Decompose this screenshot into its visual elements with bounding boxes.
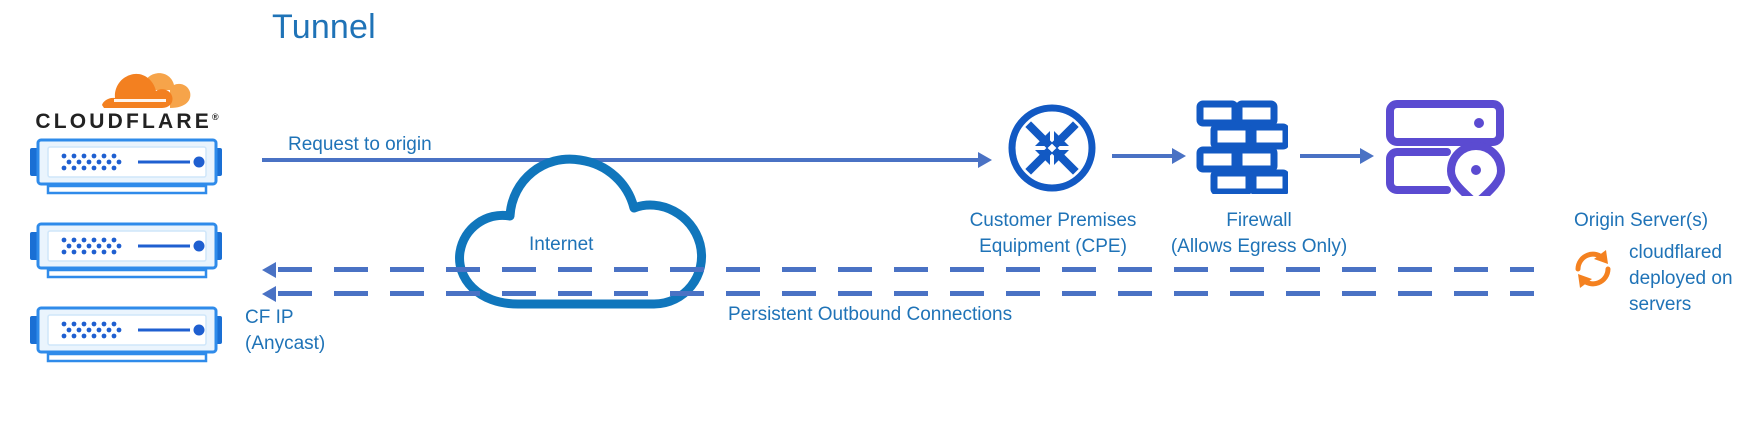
cloudflared-annotation-line1: cloudflared xyxy=(1629,240,1751,266)
tunnel-diagram: Tunnel CLOUDFLARE® xyxy=(0,0,1754,422)
cloudflared-annotation-line3: servers xyxy=(1629,292,1751,318)
server-rack-icon xyxy=(22,220,222,276)
firewall-label-line1: Firewall xyxy=(1146,208,1372,234)
cf-ip-label-line2: (Anycast) xyxy=(245,331,325,357)
cloudflared-annotation: cloudflared deployed on servers xyxy=(1629,240,1751,318)
cf-ip-label-line1: CF IP xyxy=(245,305,325,331)
brick-wall-icon xyxy=(1196,100,1288,199)
cloudflare-logo: CLOUDFLARE® xyxy=(22,72,232,134)
cf-ip-label: CF IP (Anycast) xyxy=(245,305,325,357)
persistent-outbound-line-top xyxy=(278,267,1534,272)
registered-mark: ® xyxy=(212,112,219,122)
persistent-outbound-arrowhead-bottom xyxy=(262,286,276,302)
firewall-label-line2: (Allows Egress Only) xyxy=(1146,234,1372,260)
cpe-to-firewall-arrowhead xyxy=(1172,148,1186,164)
request-to-origin-arrowhead xyxy=(978,152,992,168)
server-rack-icon xyxy=(22,136,222,192)
cloudflare-wordmark: CLOUDFLARE® xyxy=(22,110,232,134)
firewall-to-origin-arrowhead xyxy=(1360,148,1374,164)
cloudflared-annotation-line2: deployed on xyxy=(1629,266,1751,292)
four-arrows-circle-icon xyxy=(1006,102,1098,199)
persistent-outbound-label: Persistent Outbound Connections xyxy=(728,302,1012,328)
origin-server-label: Origin Server(s) xyxy=(1574,208,1708,234)
cloudflare-wordmark-text: CLOUDFLARE xyxy=(35,110,212,133)
sync-refresh-icon xyxy=(1570,246,1616,297)
cloud-icon xyxy=(448,136,718,316)
persistent-outbound-line-bottom xyxy=(278,291,1534,296)
firewall-label: Firewall (Allows Egress Only) xyxy=(1146,208,1372,260)
firewall-to-origin-line xyxy=(1300,154,1362,158)
request-to-origin-label: Request to origin xyxy=(288,132,432,158)
cloudflare-cloud-icon xyxy=(74,68,194,116)
server-rack-icon xyxy=(22,304,222,360)
internet-label: Internet xyxy=(529,232,593,258)
server-pin-icon xyxy=(1386,100,1512,201)
cpe-to-firewall-line xyxy=(1112,154,1174,158)
persistent-outbound-arrowhead-top xyxy=(262,262,276,278)
page-title: Tunnel xyxy=(272,8,376,47)
